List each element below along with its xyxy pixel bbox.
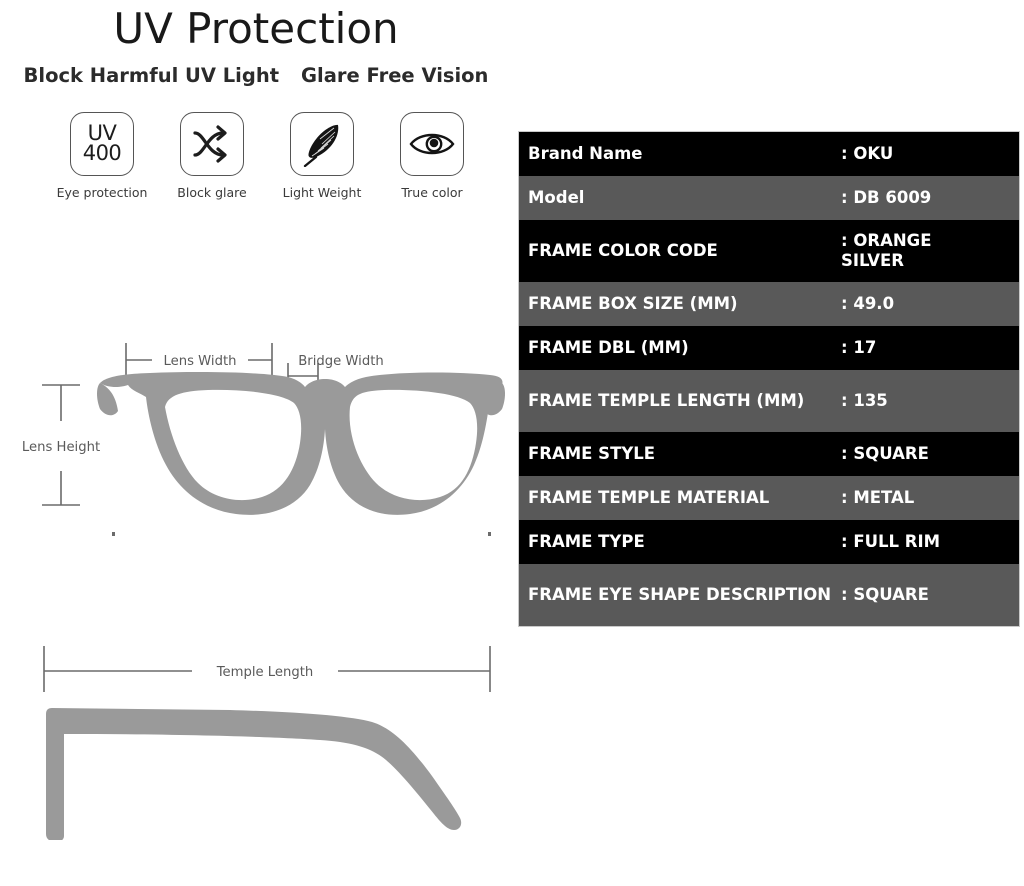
spec-value: : SQUARE (841, 436, 1019, 472)
spec-value: : 135 (841, 383, 1019, 419)
uv400-icon: UV 400 (70, 112, 134, 176)
spec-key: Model (519, 181, 841, 216)
spec-value: : 49.0 (841, 286, 1019, 322)
feature-block-glare: Block glare (162, 112, 262, 200)
spec-key: FRAME STYLE (519, 437, 841, 472)
eyeglass-frame-shape (97, 372, 505, 515)
spec-value: : OKU (841, 136, 1019, 172)
feature-badge-row: UV 400 Eye protection Block glare (52, 112, 482, 200)
lens-width-label: Lens Width (164, 354, 237, 369)
spec-value: : DB 6009 (841, 180, 1019, 216)
uv400-line-2: 400 (83, 144, 122, 164)
spec-value: : FULL RIM (841, 524, 1019, 560)
frame-tick-right (488, 532, 491, 536)
spec-key: FRAME EYE SHAPE DESCRIPTION (519, 578, 841, 613)
spec-key: FRAME BOX SIZE (MM) (519, 287, 841, 322)
frame-tick-left (112, 532, 115, 536)
spec-row: FRAME DBL (MM): 17 (519, 326, 1019, 370)
spec-row: Model: DB 6009 (519, 176, 1019, 220)
spec-row: FRAME TEMPLE MATERIAL: METAL (519, 476, 1019, 520)
feature-caption-block-glare: Block glare (177, 185, 246, 200)
promo-subtitle-1: Block Harmful UV Light (24, 64, 280, 87)
feature-caption-light-weight: Light Weight (283, 185, 362, 200)
temple-arm-shape (46, 708, 461, 840)
shuffle-arrows-icon (180, 112, 244, 176)
spec-value: : METAL (841, 480, 1019, 516)
temple-diagram: Temple Length (0, 630, 512, 840)
feature-light-weight: Light Weight (272, 112, 372, 200)
feature-caption-eye-protection: Eye protection (57, 185, 148, 200)
feature-caption-true-color: True color (401, 185, 462, 200)
spec-row: Brand Name: OKU (519, 132, 1019, 176)
lens-height-label: Lens Height (22, 440, 100, 455)
spec-value: : SQUARE (841, 577, 1019, 613)
feature-true-color: True color (382, 112, 482, 200)
specification-table: Brand Name: OKUModel: DB 6009FRAME COLOR… (518, 131, 1020, 627)
spec-key: FRAME DBL (MM) (519, 331, 841, 366)
spec-key: Brand Name (519, 137, 841, 172)
spec-key: FRAME TEMPLE MATERIAL (519, 481, 841, 516)
promo-subtitle-2: Glare Free Vision (301, 64, 488, 87)
uv-protection-panel: UV Protection Block Harmful UV Light Gla… (0, 0, 512, 886)
spec-row: FRAME TYPE: FULL RIM (519, 520, 1019, 564)
spec-value: : ORANGE SILVER (841, 223, 1019, 279)
spec-row: FRAME EYE SHAPE DESCRIPTION: SQUARE (519, 564, 1019, 626)
spec-key: FRAME TEMPLE LENGTH (MM) (519, 384, 841, 419)
spec-row: FRAME STYLE: SQUARE (519, 432, 1019, 476)
spec-value: : 17 (841, 330, 1019, 366)
eye-icon (400, 112, 464, 176)
feature-eye-protection: UV 400 Eye protection (52, 112, 152, 200)
spec-key: FRAME COLOR CODE (519, 234, 841, 269)
bridge-width-label: Bridge Width (298, 354, 384, 369)
spec-row: FRAME TEMPLE LENGTH (MM): 135 (519, 370, 1019, 432)
promo-subtitle-row: Block Harmful UV Light Glare Free Vision (0, 64, 512, 87)
feather-icon (290, 112, 354, 176)
front-frame-diagram: Lens Width Bridge Width Lens Height (0, 325, 512, 555)
spec-row: FRAME BOX SIZE (MM): 49.0 (519, 282, 1019, 326)
temple-length-label: Temple Length (216, 665, 314, 680)
page-title: UV Protection (0, 4, 512, 53)
spec-row: FRAME COLOR CODE: ORANGE SILVER (519, 220, 1019, 282)
spec-key: FRAME TYPE (519, 525, 841, 560)
